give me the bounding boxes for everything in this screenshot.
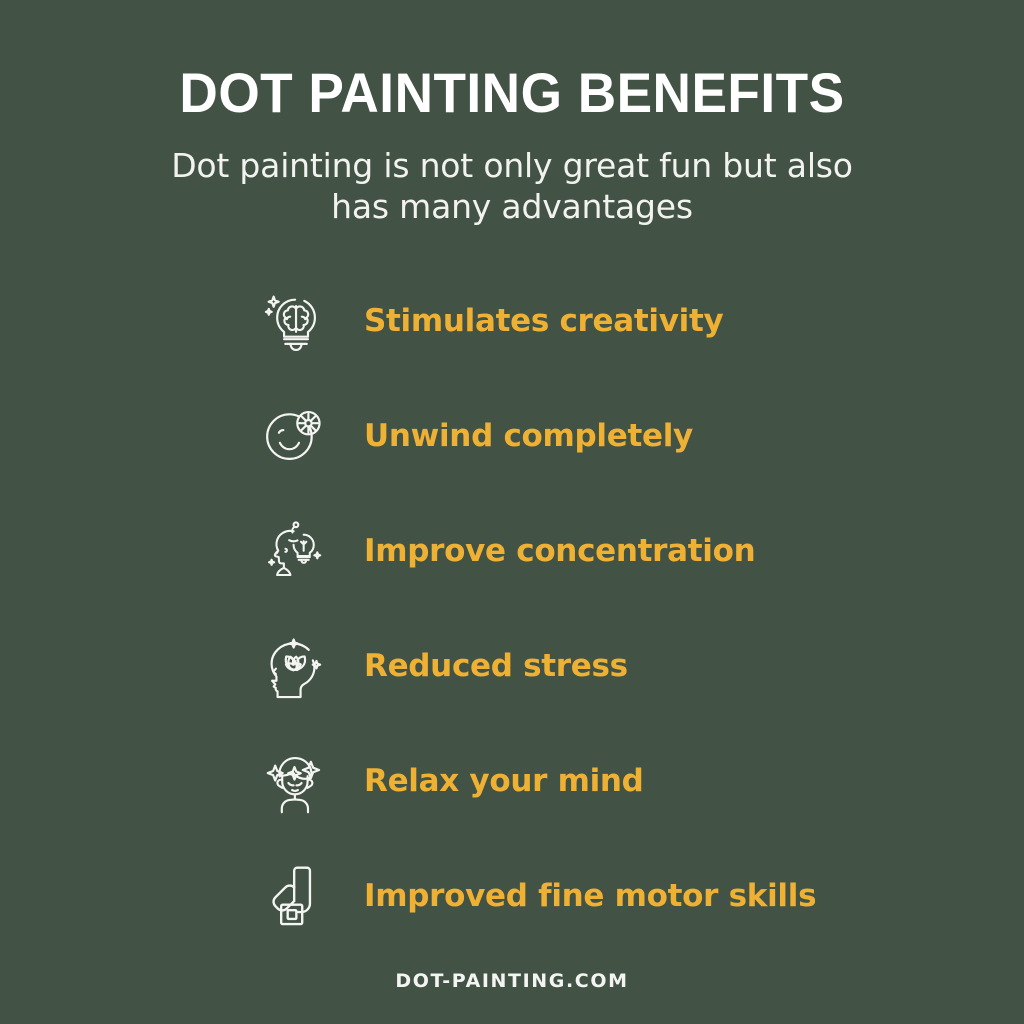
benefit-label: Reduced stress xyxy=(364,648,628,684)
website-label: DOT-PAINTING.COM xyxy=(395,970,628,992)
benefit-label: Improved fine motor skills xyxy=(364,878,816,914)
benefit-label: Stimulates creativity xyxy=(364,303,723,339)
calm-woman-stars-icon xyxy=(262,748,328,814)
list-item: Relax your mind xyxy=(132,723,892,838)
poster-header: DOT PAINTING BENEFITS Dot painting is no… xyxy=(0,0,1024,227)
list-item: Reduced stress xyxy=(132,608,892,723)
list-item: Improve concentration xyxy=(132,493,892,608)
list-item: Improved fine motor skills xyxy=(132,838,892,953)
hand-holding-block-icon xyxy=(262,863,328,929)
benefit-label: Unwind completely xyxy=(364,418,693,454)
infographic-poster: DOT PAINTING BENEFITS Dot painting is no… xyxy=(0,0,1024,1024)
list-item: Unwind completely xyxy=(132,378,892,493)
benefit-label: Improve concentration xyxy=(364,533,755,569)
list-item: Stimulates creativity xyxy=(132,263,892,378)
benefits-list: Stimulates creativity Unwind completely xyxy=(132,263,892,953)
poster-footer: DOT-PAINTING.COM xyxy=(0,970,1024,992)
page-title: DOT PAINTING BENEFITS xyxy=(26,64,999,123)
head-profile-lightbulb-icon xyxy=(262,518,328,584)
head-lotus-icon xyxy=(262,633,328,699)
smiling-face-flower-icon xyxy=(262,403,328,469)
page-subtitle: Dot painting is not only great fun but a… xyxy=(147,145,877,228)
brain-lightbulb-icon xyxy=(262,288,328,354)
benefit-label: Relax your mind xyxy=(364,763,644,799)
